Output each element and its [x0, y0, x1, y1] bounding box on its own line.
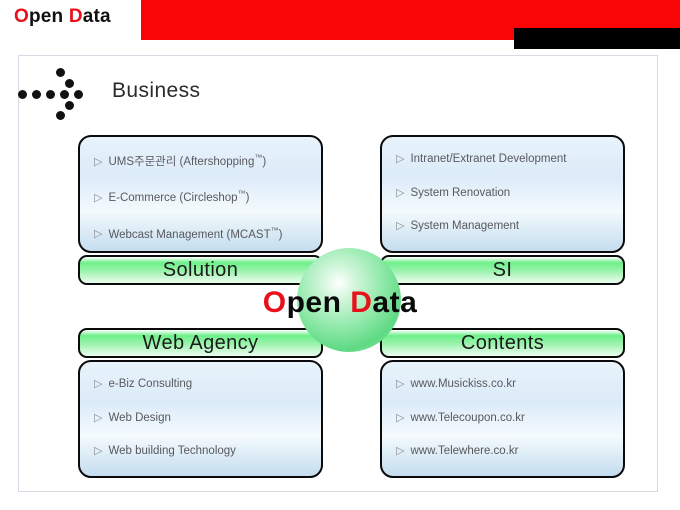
quadrant-item: ▷www.Musickiss.co.kr — [396, 379, 617, 391]
quadrant-item-label: Webcast Management (MCAST™) — [108, 227, 282, 241]
triangle-bullet-icon: ▷ — [94, 379, 102, 390]
quadrant-item: ▷Intranet/Extranet Development — [396, 154, 617, 166]
quadrant-body: ▷Intranet/Extranet Development▷System Re… — [380, 135, 625, 253]
quadrant-item: ▷System Renovation — [396, 188, 617, 200]
quadrant-body: ▷e-Biz Consulting▷Web Design▷Web buildin… — [78, 360, 323, 478]
quadrant-item-label: System Management — [410, 221, 519, 233]
dot-arrow-icon — [18, 68, 92, 120]
quadrant-banner[interactable]: Web Agency — [78, 328, 323, 358]
quadrant-banner-label: Contents — [461, 333, 544, 353]
triangle-bullet-icon: ▷ — [94, 157, 102, 168]
quadrant-banner-label: Web Agency — [143, 333, 259, 353]
logo-dot — [74, 90, 83, 99]
logo-dot — [65, 101, 74, 110]
quadrant-banner[interactable]: SI — [380, 255, 625, 285]
quadrant-item-label: e-Biz Consulting — [108, 379, 192, 391]
quadrant-body: ▷www.Musickiss.co.kr▷www.Telecoupon.co.k… — [380, 360, 625, 478]
logo-dot — [56, 111, 65, 120]
triangle-bullet-icon: ▷ — [94, 446, 102, 457]
triangle-bullet-icon: ▷ — [396, 379, 404, 390]
triangle-bullet-icon: ▷ — [396, 413, 404, 424]
quadrant-item-list: ▷UMS주문관리 (Aftershopping™)▷E-Commerce (Ci… — [94, 154, 315, 253]
triangle-bullet-icon: ▷ — [94, 193, 102, 204]
logo-dot — [60, 90, 69, 99]
quadrant-item-label: Intranet/Extranet Development — [410, 154, 566, 166]
quadrant-item-label: Web building Technology — [108, 446, 235, 458]
quadrant-solution[interactable]: ▷UMS주문관리 (Aftershopping™)▷E-Commerce (Ci… — [78, 135, 323, 285]
quadrant-item-label: www.Telewhere.co.kr — [410, 446, 518, 458]
trademark-icon: ™ — [254, 153, 262, 162]
center-brand-title: Open Data — [0, 288, 680, 318]
quadrant-item: ▷www.Telewhere.co.kr — [396, 446, 617, 458]
triangle-bullet-icon: ▷ — [396, 446, 404, 457]
quadrant-item-list: ▷e-Biz Consulting▷Web Design▷Web buildin… — [94, 379, 315, 478]
quadrant-item-list: ▷Intranet/Extranet Development▷System Re… — [396, 154, 617, 253]
triangle-bullet-icon: ▷ — [94, 229, 102, 240]
trademark-icon: ™ — [271, 226, 279, 235]
quadrant-item-label: E-Commerce (Circleshop™) — [108, 190, 249, 204]
triangle-bullet-icon: ▷ — [94, 413, 102, 424]
quadrant-item-label: www.Musickiss.co.kr — [410, 379, 515, 391]
logo-dot — [18, 90, 27, 99]
quadrant-item: ▷Web Design — [94, 413, 315, 425]
quadrant-item: ▷Web building Technology — [94, 446, 315, 458]
quadrant-banner[interactable]: Contents — [380, 328, 625, 358]
logo-dot — [56, 68, 65, 77]
quadrant-banner-label: SI — [493, 260, 513, 280]
quadrant-si[interactable]: ▷Intranet/Extranet Development▷System Re… — [380, 135, 625, 285]
quadrant-item-list: ▷www.Musickiss.co.kr▷www.Telecoupon.co.k… — [396, 379, 617, 478]
logo-dot — [32, 90, 41, 99]
header-black-bar — [514, 28, 680, 49]
quadrant-banner-label: Solution — [163, 260, 238, 280]
quadrant-item: ▷e-Biz Consulting — [94, 379, 315, 391]
trademark-icon: ™ — [238, 189, 246, 198]
quadrant-body: ▷UMS주문관리 (Aftershopping™)▷E-Commerce (Ci… — [78, 135, 323, 253]
logo-dot — [46, 90, 55, 99]
triangle-bullet-icon: ▷ — [396, 188, 404, 199]
quadrant-item: ▷www.Telecoupon.co.kr — [396, 413, 617, 425]
quadrant-contents[interactable]: ▷www.Musickiss.co.kr▷www.Telecoupon.co.k… — [380, 328, 625, 478]
logo-dot — [65, 79, 74, 88]
quadrant-item-label: Web Design — [108, 413, 170, 425]
quadrant-item-label: UMS주문관리 (Aftershopping™) — [108, 154, 266, 168]
quadrant-banner[interactable]: Solution — [78, 255, 323, 285]
page-title: Open Data — [14, 6, 111, 28]
triangle-bullet-icon: ▷ — [396, 154, 404, 165]
quadrant-item: ▷E-Commerce (Circleshop™) — [94, 190, 315, 204]
triangle-bullet-icon: ▷ — [396, 221, 404, 232]
quadrant-web-agency[interactable]: ▷e-Biz Consulting▷Web Design▷Web buildin… — [78, 328, 323, 478]
section-heading: Business — [112, 79, 200, 103]
quadrant-item: ▷System Management — [396, 221, 617, 233]
quadrant-item-label: System Renovation — [410, 188, 510, 200]
quadrant-item-label: www.Telecoupon.co.kr — [410, 413, 524, 425]
quadrant-item: ▷UMS주문관리 (Aftershopping™) — [94, 154, 315, 168]
quadrant-item: ▷Webcast Management (MCAST™) — [94, 227, 315, 241]
